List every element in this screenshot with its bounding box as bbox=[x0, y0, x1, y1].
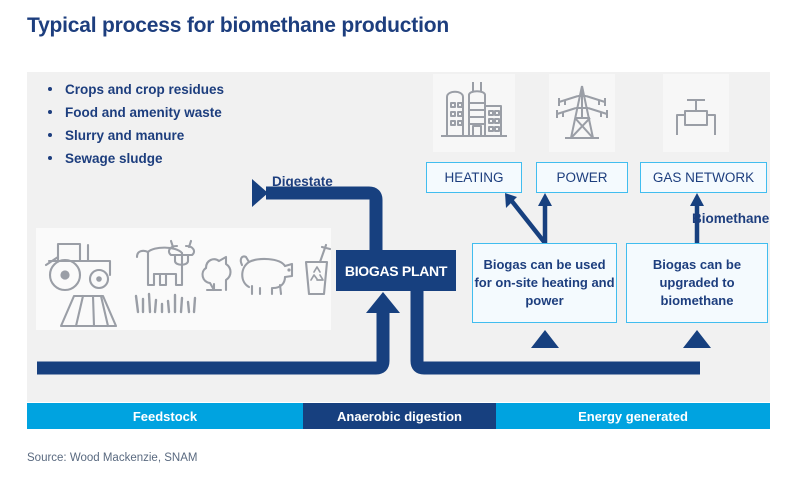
description-box-onsite-text: Biogas can be used for on-site heating a… bbox=[473, 256, 616, 310]
list-item: Food and amenity waste bbox=[43, 101, 333, 124]
diagram-canvas: Typical process for biomethane productio… bbox=[0, 0, 800, 480]
stage-bar-feedstock-label: Feedstock bbox=[133, 409, 197, 424]
heating-icon-tile bbox=[433, 74, 515, 152]
output-box-heating-label: HEATING bbox=[444, 170, 503, 185]
biomethane-label: Biomethane bbox=[692, 211, 769, 226]
output-box-power[interactable]: POWER bbox=[536, 162, 628, 193]
stage-bar-energy: Energy generated bbox=[496, 403, 770, 429]
bullet-icon bbox=[48, 110, 52, 114]
output-box-power-label: POWER bbox=[556, 170, 607, 185]
list-item-label: Food and amenity waste bbox=[65, 105, 222, 120]
biogas-plant-label: BIOGAS PLANT bbox=[345, 263, 447, 279]
source-note: Source: Wood Mackenzie, SNAM bbox=[27, 452, 197, 464]
list-item-label: Crops and crop residues bbox=[65, 82, 224, 97]
list-item-label: Slurry and manure bbox=[65, 128, 184, 143]
bullet-icon bbox=[48, 133, 52, 137]
pig-icon bbox=[241, 256, 292, 294]
output-box-gas-network-label: GAS NETWORK bbox=[653, 170, 754, 185]
tractor-icon bbox=[46, 244, 110, 290]
stage-bar-feedstock: Feedstock bbox=[27, 403, 303, 429]
feedstock-list: Crops and crop residues Food and amenity… bbox=[43, 78, 333, 170]
list-item-label: Sewage sludge bbox=[65, 151, 163, 166]
cow-icon bbox=[137, 241, 194, 285]
digestate-label: Digestate bbox=[272, 174, 333, 189]
description-box-upgrade-text: Biogas can be upgraded to biomethane bbox=[627, 256, 767, 310]
gas-valve-icon bbox=[663, 74, 729, 152]
feedstock-illustration bbox=[36, 228, 331, 330]
biogas-plant-node[interactable]: BIOGAS PLANT bbox=[336, 250, 456, 291]
description-box-onsite[interactable]: Biogas can be used for on-site heating a… bbox=[472, 243, 617, 323]
output-box-gas-network[interactable]: GAS NETWORK bbox=[640, 162, 767, 193]
list-item: Sewage sludge bbox=[43, 147, 333, 170]
bullet-icon bbox=[48, 87, 52, 91]
output-box-heating[interactable]: HEATING bbox=[426, 162, 522, 193]
chicken-icon bbox=[203, 257, 231, 290]
bullet-icon bbox=[48, 156, 52, 160]
list-item: Slurry and manure bbox=[43, 124, 333, 147]
stage-bar-anaerobic-label: Anaerobic digestion bbox=[337, 409, 462, 424]
grass-icon bbox=[136, 294, 195, 312]
power-icon-tile bbox=[549, 74, 615, 152]
page-title: Typical process for biomethane productio… bbox=[27, 14, 449, 38]
field-icon bbox=[61, 296, 116, 326]
stage-bar-anaerobic: Anaerobic digestion bbox=[303, 403, 496, 429]
recycling-bin-icon bbox=[306, 245, 330, 294]
buildings-icon bbox=[433, 74, 515, 152]
gas-icon-tile bbox=[663, 74, 729, 152]
list-item: Crops and crop residues bbox=[43, 78, 333, 101]
stage-bar-energy-label: Energy generated bbox=[578, 409, 688, 424]
description-box-upgrade[interactable]: Biogas can be upgraded to biomethane bbox=[626, 243, 768, 323]
pylon-icon bbox=[549, 74, 615, 152]
